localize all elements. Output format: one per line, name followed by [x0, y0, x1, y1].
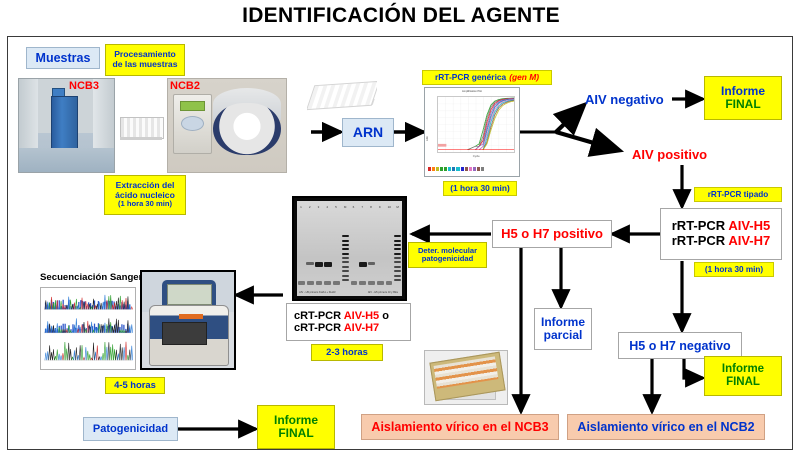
gel-ladder-band: [342, 266, 349, 268]
gel-lane-label: 6: [353, 205, 355, 209]
gel-primer-dimer: [333, 281, 340, 285]
gel-ladder-band: [394, 266, 401, 268]
deter-line2: patogenicidad: [422, 255, 473, 264]
gel-ladder-band: [394, 248, 401, 250]
tiempo-tipado-box: (1 hora 30 min): [694, 262, 774, 277]
gel-ladder-band: [342, 248, 349, 250]
gel-ladder-band: [394, 244, 401, 246]
gel-lane-label: 10: [388, 205, 391, 209]
crt-line1: cRT-PCR AIV-H5 o: [294, 310, 389, 322]
legend-swatch: [440, 167, 443, 171]
chart-legend: [428, 165, 484, 173]
gel-ladder-band: [394, 279, 401, 281]
legend-swatch: [477, 167, 480, 171]
qpcr-amplification-chart: Amplification Plot ΔRn Cycle: [424, 87, 520, 177]
tiempo-sanger-label: 4-5 horas: [114, 380, 156, 391]
informe-final-top-line1: Informe: [721, 85, 765, 98]
rrt-pcr-generica-text: rRT-PCR genérica: [435, 73, 506, 82]
legend-swatch: [444, 167, 447, 171]
gel-ladder-band: [342, 235, 349, 237]
informe-final-bottom-box[interactable]: Informe FINAL: [257, 405, 335, 449]
rrt-pcr-tipado-label: rRT-PCR tipado: [694, 187, 782, 202]
gel-primer-dimer: [386, 281, 393, 285]
tiempo-generica-label: (1 hora 30 min): [450, 184, 510, 193]
tiempo-generica-box: (1 hora 30 min): [443, 181, 517, 196]
informe-parcial-line2: parcial: [544, 329, 583, 342]
informe-final-right-box[interactable]: Informe FINAL: [704, 356, 782, 396]
aislamiento-ncb2-box[interactable]: Aislamiento vírico en el NCB2: [567, 414, 765, 440]
egg-incubator-photo: [424, 350, 508, 405]
informe-parcial-box[interactable]: Informe parcial: [534, 308, 592, 350]
gel-ladder-band: [342, 261, 349, 263]
chart-plot-area: [437, 96, 515, 153]
tiempo-sanger-box: 4-5 horas: [105, 377, 165, 394]
tiempo-crt-box: 2-3 horas: [311, 344, 383, 361]
ncb2-label: NCB2: [170, 80, 200, 92]
tiempo-crt-label: 2-3 horas: [326, 347, 368, 358]
gel-lane-label: 7: [361, 205, 363, 209]
chart-xlabel: Cycle: [437, 154, 515, 158]
gel-primer-dimer: [316, 281, 323, 285]
deter-molecular-patogenicidad-box[interactable]: Deter. molecular patogenicidad: [408, 242, 487, 268]
crt-pcr-box[interactable]: cRT-PCR AIV-H5 o cRT-PCR AIV-H7: [286, 303, 411, 341]
gel-ladder-band: [342, 257, 349, 259]
muestras-box[interactable]: Muestras: [26, 47, 100, 69]
gel-ladder-band: [342, 253, 349, 255]
arn-box[interactable]: ARN: [342, 118, 394, 147]
gel-ladder-band: [394, 253, 401, 255]
muestras-label: Muestras: [36, 51, 91, 65]
h5-h7-negativo-label: H5 o H7 negativo: [629, 339, 730, 353]
gel-sample-band: [306, 262, 314, 265]
informe-final-right-line2: FINAL: [726, 376, 760, 389]
aiv-negativo-label: AIV negativo: [585, 92, 664, 107]
gel-lane-label: 3: [318, 205, 320, 209]
informe-final-top-line2: FINAL: [725, 98, 760, 111]
patogenicidad-box[interactable]: Patogenicidad: [83, 417, 178, 441]
h5-h7-positivo-label: H5 o H7 positivo: [501, 227, 603, 242]
extraccion-acido-nucleico-box[interactable]: Extracción del ácido nucleico (1 hora 30…: [104, 175, 186, 215]
tipado-line1: rRT-PCR AIV-H5: [672, 219, 770, 234]
aislamiento-ncb3-box[interactable]: Aislamiento vírico en el NCB3: [361, 414, 559, 440]
tipado-line2: rRT-PCR AIV-H7: [672, 234, 770, 249]
gel-primer-dimer: [307, 281, 314, 285]
aiv-positivo-label: AIV positivo: [632, 147, 707, 162]
arn-label: ARN: [353, 125, 383, 141]
gel-lane-label: 1: [300, 205, 302, 209]
informe-final-bottom-line1: Informe: [274, 414, 318, 427]
gel-sample-band: [368, 262, 376, 265]
legend-swatch: [473, 167, 476, 171]
gel-footer-left: AIV - H5 primers KHA1 + KHA3: [299, 291, 335, 294]
gel-ladder-band: [342, 275, 349, 277]
gel-ladder-band: [394, 240, 401, 242]
h5-h7-negativo-box[interactable]: H5 o H7 negativo: [618, 332, 742, 359]
informe-final-bottom-line2: FINAL: [278, 427, 313, 440]
ncb3-label: NCB3: [69, 80, 99, 92]
h5-h7-positivo-box[interactable]: H5 o H7 positivo: [492, 220, 612, 248]
secuenciacion-sanger-title: Secuenciación Sanger: [40, 272, 142, 283]
legend-swatch: [481, 167, 484, 171]
legend-swatch: [456, 167, 459, 171]
gen-m-text: (gen M): [509, 73, 539, 82]
gel-footer-right: AIV - H5 primers J3 y B2a: [368, 291, 398, 294]
gel-lane-label: M: [344, 205, 347, 209]
gel-lane-label: 8: [370, 205, 372, 209]
gel-lane-label: 4: [326, 205, 328, 209]
sequencer-instrument-photo: [140, 270, 236, 370]
gel-sample-band: [324, 262, 332, 268]
extraccion-time: (1 hora 30 min): [118, 200, 172, 209]
gel-primer-dimer: [377, 281, 384, 285]
gel-sample-band: [359, 262, 367, 268]
sample-plate-photo: [115, 105, 167, 150]
patogenicidad-label: Patogenicidad: [93, 423, 168, 435]
chart-ylabel: ΔRn: [426, 136, 429, 141]
legend-swatch: [465, 167, 468, 171]
legend-swatch: [432, 167, 435, 171]
96-well-plate-photo: [307, 76, 377, 116]
legend-swatch: [469, 167, 472, 171]
electropherogram-traces: [41, 288, 135, 369]
informe-final-top-box[interactable]: Informe FINAL: [704, 76, 782, 120]
gel-primer-dimer: [351, 281, 358, 285]
legend-swatch: [428, 167, 431, 171]
crt-line2: cRT-PCR AIV-H7: [294, 322, 379, 334]
gel-ladder-band: [342, 279, 349, 281]
ncb2-extractor-photo: [167, 78, 287, 173]
gel-ladder-band: [394, 275, 401, 277]
rrt-pcr-tipado-text: rRT-PCR tipado: [708, 190, 769, 199]
legend-swatch: [452, 167, 455, 171]
legend-swatch: [436, 167, 439, 171]
gel-lane-label: M: [396, 205, 399, 209]
gel-electrophoresis-photo: 12345M678910MAIV - H5 primers KHA1 + KHA…: [292, 196, 407, 301]
gel-primer-dimer: [298, 281, 305, 285]
gel-sample-band: [315, 262, 323, 268]
aislamiento-ncb3-label: Aislamiento vírico en el NCB3: [371, 420, 548, 434]
tiempo-tipado-label: (1 hora 30 min): [705, 265, 763, 274]
rrt-pcr-generica-label[interactable]: rRT-PCR genérica (gen M): [422, 70, 552, 85]
gel-primer-dimer: [324, 281, 331, 285]
gel-ladder-band: [394, 257, 401, 259]
gel-ladder-band: [342, 244, 349, 246]
procesamiento-muestras-box[interactable]: Procesamiento de las muestras: [105, 44, 185, 76]
chart-title: Amplification Plot: [425, 90, 519, 93]
gel-primer-dimer: [368, 281, 375, 285]
informe-parcial-line1: Informe: [541, 316, 585, 329]
gel-ladder-band: [394, 235, 401, 237]
gel-ladder-band: [394, 261, 401, 263]
legend-swatch: [461, 167, 464, 171]
amplification-curves: [438, 97, 514, 152]
gel-lane-label: 2: [309, 205, 311, 209]
page-title: IDENTIFICACIÓN DEL AGENTE: [0, 4, 802, 28]
sanger-electropherogram-photo: [40, 287, 136, 370]
gel-ladder-band: [342, 240, 349, 242]
gel-ladder-band: [342, 270, 349, 272]
informe-final-right-line1: Informe: [722, 363, 764, 376]
gel-lane-label: 5: [335, 205, 337, 209]
aislamiento-ncb2-label: Aislamiento vírico en el NCB2: [577, 420, 754, 434]
flow-diagram-page: IDENTIFICACIÓN DEL AGENTE: [0, 0, 802, 458]
gel-ladder-band: [394, 270, 401, 272]
rrt-pcr-tipado-box[interactable]: rRT-PCR AIV-H5 rRT-PCR AIV-H7: [660, 208, 782, 260]
ncb3-corridor-photo: [18, 78, 115, 173]
gel-primer-dimer: [359, 281, 366, 285]
procesamiento-line2: de las muestras: [113, 60, 178, 70]
legend-swatch: [448, 167, 451, 171]
gel-lane-label: 9: [379, 205, 381, 209]
